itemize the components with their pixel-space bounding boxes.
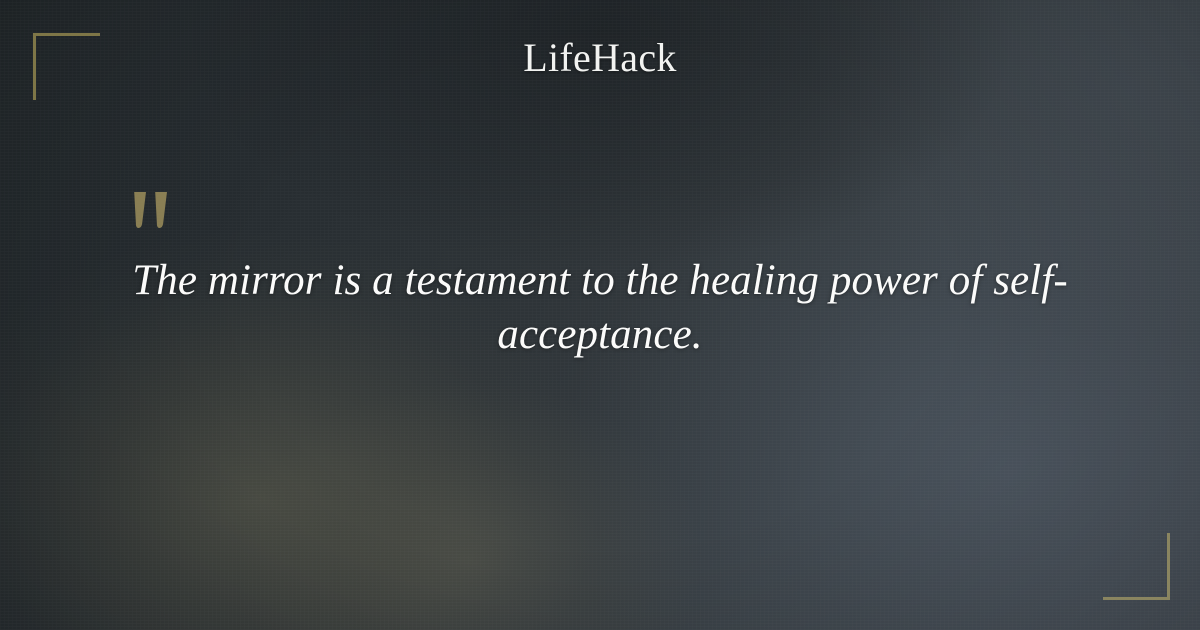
brand-name-text: LifeHack [523,38,676,78]
quote-block: The mirror is a testament to the healing… [100,190,1100,362]
quote-card: LifeHack The mirror is a testament to th… [0,0,1200,630]
brand-logo: LifeHack [0,38,1200,78]
corner-bracket-bottom-right-icon [1103,533,1170,600]
quote-mark-icon [130,190,1100,246]
quote-text: The mirror is a testament to the healing… [100,254,1100,362]
